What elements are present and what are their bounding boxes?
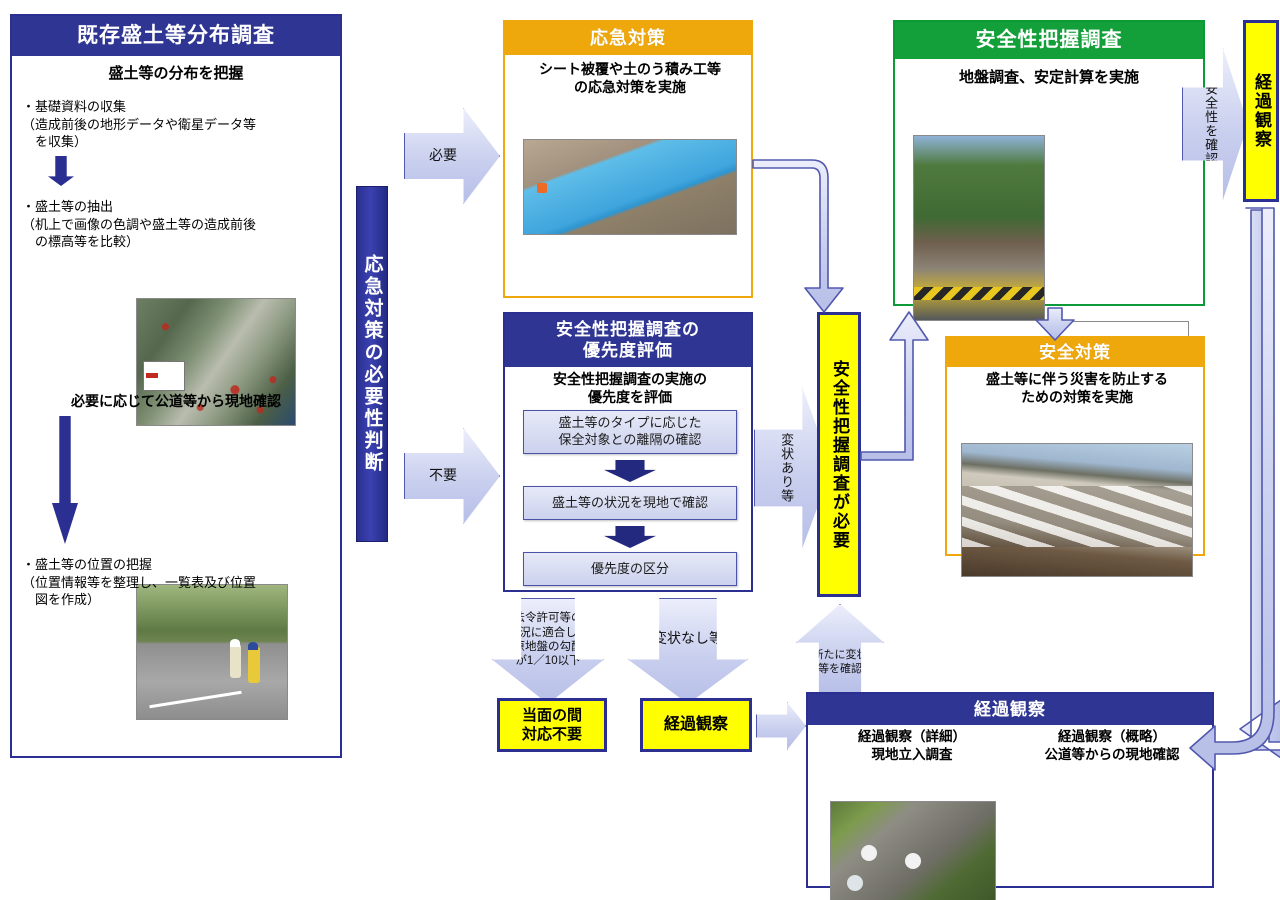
arrow-no-deformation: 変状なし等 xyxy=(628,598,748,704)
connector-right-yellow-to-observation xyxy=(1240,210,1280,758)
priority-step-3[interactable]: 優先度の区分 xyxy=(523,552,737,586)
arrow-deformation-present-label: 変状あり等 xyxy=(778,433,794,503)
flowchart-canvas: 既存盛土等分布調査 盛土等の分布を把握 ・基礎資料の収集 （造成前後の地形データ… xyxy=(0,0,1280,900)
slope-protection-photo xyxy=(961,443,1193,577)
left-item-2-line-2: （机上で画像の色調や盛土等の造成前後 xyxy=(22,216,334,234)
arrow-legal-condition: 法令許可等の 状況に適合し、 原地盤の勾配 が1／10以下 xyxy=(492,598,604,704)
outcome-no-action-line-1: 当面の間 xyxy=(522,706,582,726)
arrow-new-deformation-confirmed: 新たに変状 等を確認 xyxy=(796,604,884,696)
arrow-no-deformation-label: 変状なし等 xyxy=(653,630,723,648)
worker-helmet-1 xyxy=(230,639,240,647)
panel-header-emergency: 応急対策 xyxy=(505,22,751,55)
survey-text: 地盤調査、安定計算を実施 xyxy=(895,68,1203,88)
left-item-3-line-2: （位置情報等を整理し、一覧表及び位置 xyxy=(22,574,334,592)
left-mid-note: 必要に応じて公道等から現地確認 xyxy=(12,392,340,410)
tarp-cover-photo xyxy=(523,139,737,235)
arrow-not-necessary: 不要 xyxy=(404,428,500,524)
observation-left-caption-line-2: 現地立入調査 xyxy=(816,746,1008,764)
priority-step-2[interactable]: 盛土等の状況を現地で確認 xyxy=(523,486,737,520)
down-arrow-2-icon xyxy=(52,416,78,544)
panel-header-safety-measures: 安全対策 xyxy=(947,338,1203,367)
safety-measures-line-1: 盛土等に伴う災害を防止する xyxy=(953,370,1201,388)
arrow-to-observation-panel xyxy=(756,702,806,750)
onsite-entry-survey-photo xyxy=(830,801,996,900)
panel-header-priority-line-2: 優先度評価 xyxy=(505,340,751,361)
outcome-no-action-line-2: 対応不要 xyxy=(522,725,582,745)
panel-header-safety-survey: 安全性把握調査 xyxy=(895,22,1203,59)
priority-step-1[interactable]: 盛土等のタイプに応じた 保全対象との離隔の確認 xyxy=(523,410,737,454)
decision-bar-emergency-necessity: 応急対策の必要性判断 xyxy=(356,186,388,542)
left-item-2-line-3: の標高等を比較） xyxy=(22,233,334,251)
priority-subtitle-line-2: 優先度を評価 xyxy=(509,388,751,406)
observation-right-caption: 経過観察（概略） 公道等からの現地確認 xyxy=(1014,728,1210,763)
panel-observation-detail: 経過観察 経過観察（詳細） 現地立入調査 経過観察（概略） 公道等からの現地確認 xyxy=(806,692,1214,888)
arrow-necessary-label: 必要 xyxy=(429,147,457,165)
outcome-no-action-needed: 当面の間 対応不要 xyxy=(497,698,607,752)
connector-center-to-survey xyxy=(861,312,928,460)
panel-header-observation: 経過観察 xyxy=(808,694,1212,725)
panel-emergency-measures: 応急対策 シート被覆や土のう積み工等 の応急対策を実施 xyxy=(503,20,753,298)
left-item-1-line-2: （造成前後の地形データや衛星データ等 xyxy=(22,116,334,134)
emergency-text: シート被覆や土のう積み工等 の応急対策を実施 xyxy=(511,60,749,96)
outcome-follow-up-observation: 経過観察 xyxy=(640,698,752,752)
panel-header-existing-survey: 既存盛土等分布調査 xyxy=(12,16,340,56)
left-item-1-line-1: ・基礎資料の収集 xyxy=(22,98,334,116)
boring-survey-photo xyxy=(913,135,1045,321)
left-subtitle: 盛土等の分布を把握 xyxy=(12,64,340,84)
panel-safety-survey: 安全性把握調査 地盤調査、安定計算を実施 xyxy=(893,20,1205,306)
panel-header-priority-line-1: 安全性把握調査の xyxy=(505,319,751,340)
safety-measures-text: 盛土等に伴う災害を防止する ための対策を実施 xyxy=(953,370,1201,406)
observation-left-caption-line-1: 経過観察（詳細） xyxy=(816,728,1008,746)
observation-right-caption-line-1: 経過観察（概略） xyxy=(1014,728,1210,746)
arrow-not-necessary-label: 不要 xyxy=(429,467,457,485)
arrow-necessary: 必要 xyxy=(404,108,500,204)
satellite-legend-swatch xyxy=(146,373,158,378)
priority-subtitle-line-1: 安全性把握調査の実施の xyxy=(509,370,751,388)
panel-safety-measures: 安全対策 盛土等に伴う災害を防止する ための対策を実施 xyxy=(945,336,1205,556)
step-down-arrow-2-icon xyxy=(604,526,656,548)
safety-measures-line-2: ための対策を実施 xyxy=(953,388,1201,406)
priority-subtitle: 安全性把握調査の実施の 優先度を評価 xyxy=(509,370,751,406)
arrow-new-deformation-label: 新たに変状 等を確認 xyxy=(813,649,868,677)
left-item-2-line-1: ・盛土等の抽出 xyxy=(22,198,334,216)
left-item-2: ・盛土等の抽出 （机上で画像の色調や盛土等の造成前後 の標高等を比較） xyxy=(22,198,334,251)
emergency-text-line-2: の応急対策を実施 xyxy=(511,78,749,96)
observation-left-caption: 経過観察（詳細） 現地立入調査 xyxy=(816,728,1008,763)
left-item-3-line-1: ・盛土等の位置の把握 xyxy=(22,556,334,574)
arrow-legal-condition-label: 法令許可等の 状況に適合し、 原地盤の勾配 が1／10以下 xyxy=(508,611,589,669)
panel-header-priority: 安全性把握調査の 優先度評価 xyxy=(505,314,751,367)
worker-helmet-2 xyxy=(248,642,258,650)
left-item-1-line-3: を収集） xyxy=(22,133,334,151)
panel-priority-evaluation: 安全性把握調査の 優先度評価 安全性把握調査の実施の 優先度を評価 盛土等のタイ… xyxy=(503,312,753,592)
center-box-survey-required: 安全性把握調査が必要 xyxy=(817,312,861,597)
left-item-3-line-3: 図を作成） xyxy=(22,591,334,609)
emergency-text-line-1: シート被覆や土のう積み工等 xyxy=(511,60,749,78)
worker-figure-1 xyxy=(230,644,241,678)
panel-existing-fill-distribution-survey: 既存盛土等分布調査 盛土等の分布を把握 ・基礎資料の収集 （造成前後の地形データ… xyxy=(10,14,342,758)
observation-right-caption-line-2: 公道等からの現地確認 xyxy=(1014,746,1210,764)
down-arrow-1-icon xyxy=(48,156,74,186)
left-item-1: ・基礎資料の収集 （造成前後の地形データや衛星データ等 を収集） xyxy=(22,98,334,151)
step-down-arrow-1-icon xyxy=(604,460,656,482)
right-box-follow-up-observation: 経過観察 xyxy=(1243,20,1279,202)
arrow-safety-confirmed-label: 安全性を確認 xyxy=(1202,82,1218,166)
connector-emergency-to-center xyxy=(753,160,843,312)
worker-figure-2 xyxy=(248,647,260,683)
left-item-3: ・盛土等の位置の把握 （位置情報等を整理し、一覧表及び位置 図を作成） xyxy=(22,556,334,609)
